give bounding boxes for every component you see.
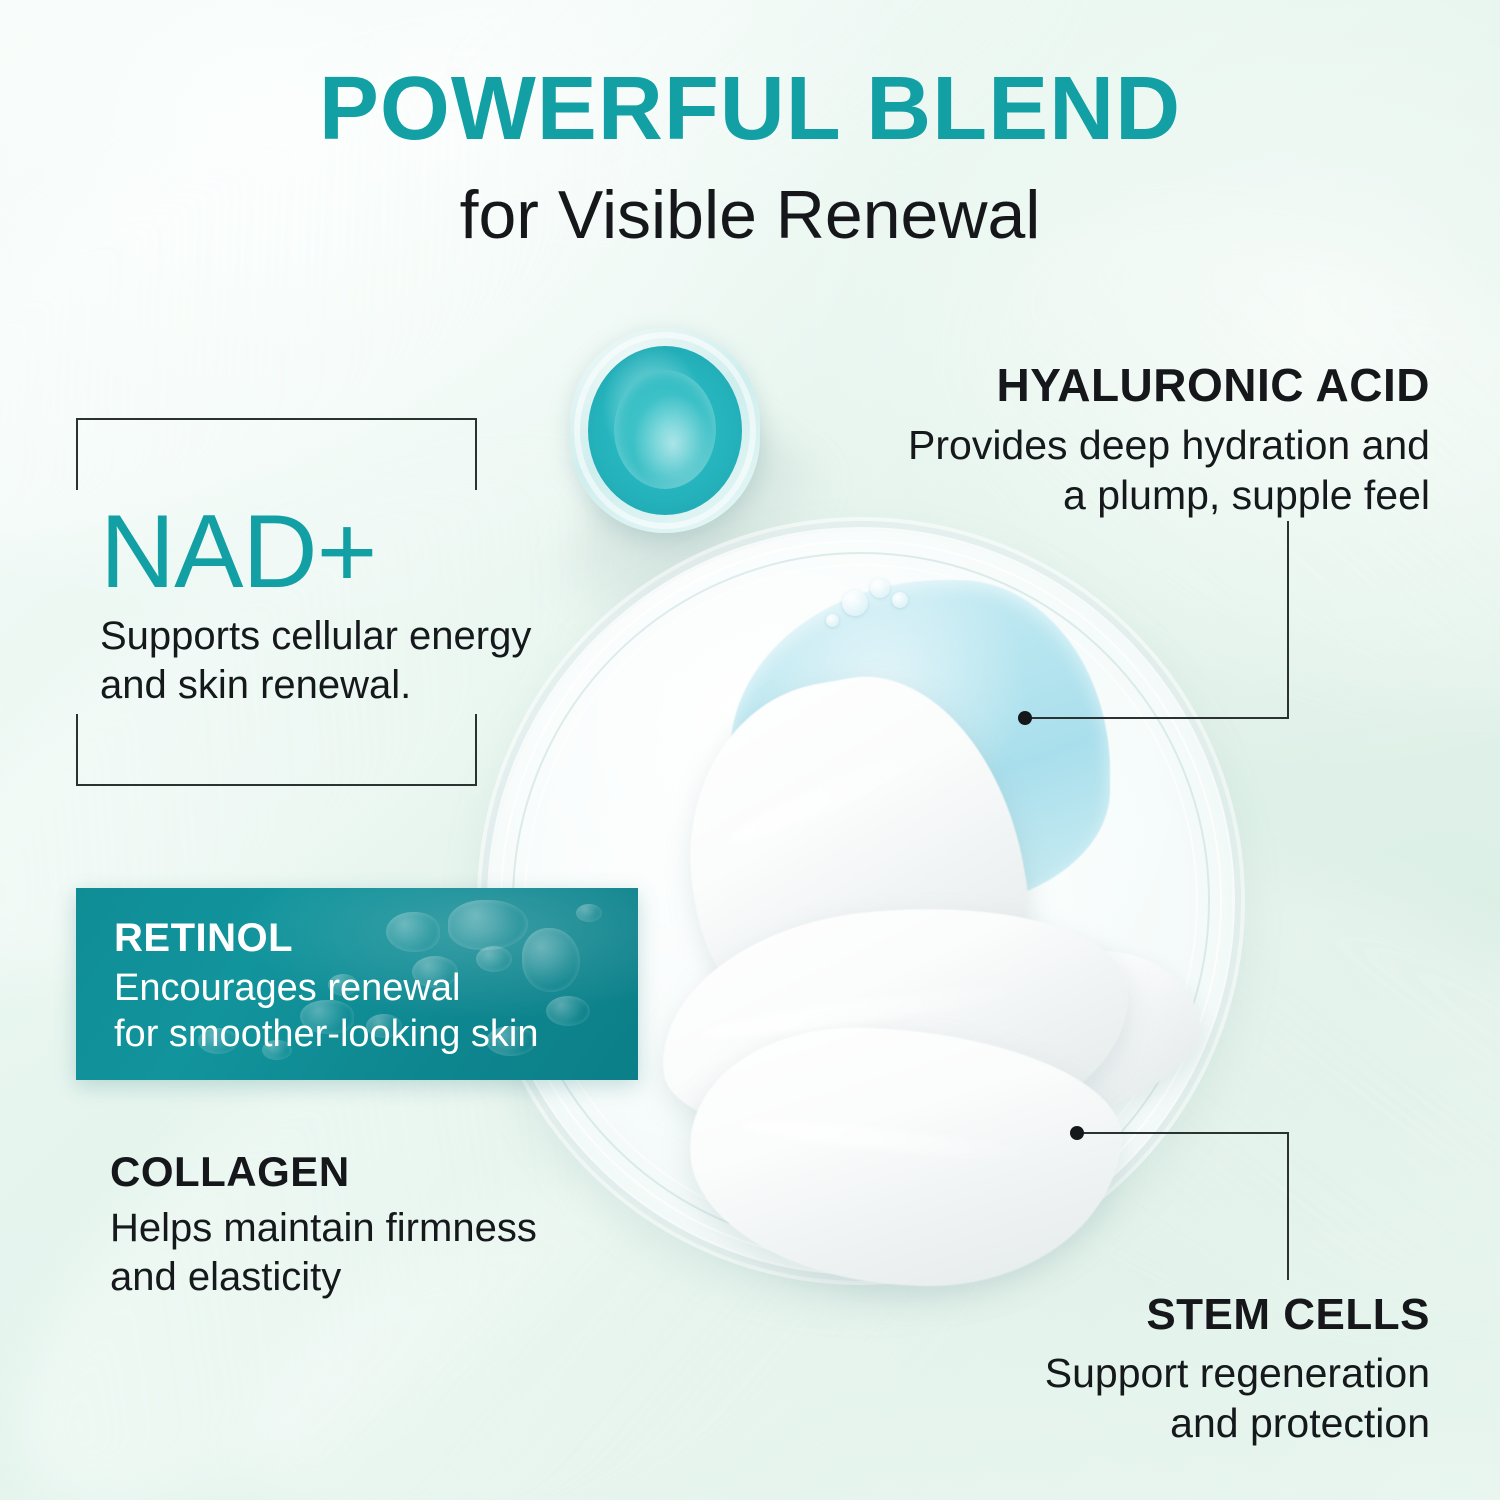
- gel-bubble: [826, 614, 839, 627]
- hyaluronic-acid-description: Provides deep hydration and a plump, sup…: [830, 420, 1430, 520]
- gel-bubble: [892, 592, 908, 608]
- stemcells-leader-dot: [1070, 1126, 1084, 1140]
- nad-bracket-top-left: [76, 418, 156, 490]
- stem-cells-description: Support regeneration and protection: [870, 1348, 1430, 1448]
- page-title: POWERFUL BLEND: [0, 62, 1500, 157]
- infographic-canvas: POWERFUL BLEND for Visible Renewal: [0, 0, 1500, 1500]
- nad-bracket-top-right: [397, 418, 477, 490]
- stem-cells-title: STEM CELLS: [870, 1290, 1430, 1340]
- stemcells-leader-vertical: [1287, 1132, 1289, 1280]
- collagen-description: Helps maintain firmness and elasticity: [110, 1204, 630, 1302]
- hyaluronic-leader-vertical: [1287, 521, 1289, 719]
- gel-bubble: [842, 590, 868, 616]
- vial-glass-rim: [574, 332, 756, 529]
- hyaluronic-acid-title: HYALURONIC ACID: [830, 358, 1430, 412]
- retinol-box: RETINOL Encourages renewal for smoother-…: [76, 888, 638, 1080]
- retinol-text-group: RETINOL Encourages renewal for smoother-…: [114, 916, 539, 1058]
- collagen-title: COLLAGEN: [110, 1148, 630, 1196]
- retinol-bubble: [546, 996, 590, 1026]
- hyaluronic-leader-horizontal: [1031, 717, 1289, 719]
- collagen-block: COLLAGEN Helps maintain firmness and ela…: [110, 1148, 630, 1302]
- serum-vial: [570, 328, 760, 533]
- stemcells-leader-horizontal: [1083, 1132, 1289, 1134]
- hyaluronic-leader-dot: [1018, 711, 1032, 725]
- nad-description: Supports cellular energy and skin renewa…: [100, 612, 590, 710]
- retinol-title: RETINOL: [114, 916, 539, 961]
- nad-title: NAD+: [100, 500, 376, 604]
- page-subtitle: for Visible Renewal: [0, 178, 1500, 253]
- retinol-description: Encourages renewal for smoother-looking …: [114, 965, 539, 1058]
- hyaluronic-acid-block: HYALURONIC ACID Provides deep hydration …: [830, 358, 1430, 520]
- retinol-bubble: [576, 904, 602, 922]
- stem-cells-block: STEM CELLS Support regeneration and prot…: [870, 1290, 1430, 1448]
- nad-bracket-bottom-left: [76, 714, 156, 786]
- nad-bracket-bottom-right: [397, 714, 477, 786]
- gel-bubble: [870, 578, 890, 598]
